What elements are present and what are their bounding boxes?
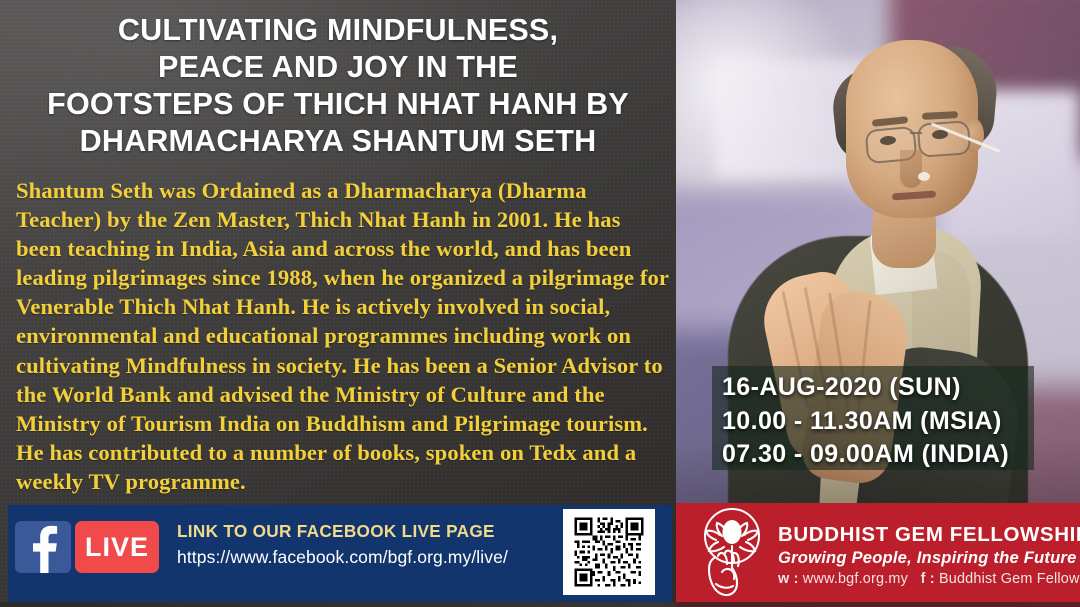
organisation-name: BUDDHIST GEM FELLOWSHIP <box>778 523 1078 547</box>
headset-mic-capsule-icon <box>918 172 930 181</box>
title-line-3: FOOTSTEPS OF THICH NHAT HANH BY <box>0 86 676 123</box>
title-line-4: DHARMACHARYA SHANTUM SETH <box>0 123 676 160</box>
title-line-1: CULTIVATING MINDFULNESS, <box>0 12 676 49</box>
organisation-tagline: Growing People, Inspiring the Future <box>778 548 1078 568</box>
lotus-in-hand-logo-icon <box>692 506 768 598</box>
facebook-label: f : <box>921 571 935 587</box>
speaker-biography: Shantum Seth was Ordained as a Dharmacha… <box>16 176 670 496</box>
poster-bottom-edge <box>0 602 1080 607</box>
speaker-spectacle-right <box>917 120 971 158</box>
qr-code-icon[interactable] <box>563 509 655 595</box>
poster-title: CULTIVATING MINDFULNESS, PEACE AND JOY I… <box>0 12 676 160</box>
schedule-time-msia: 10.00 - 11.30AM (MSIA) <box>722 405 1062 439</box>
event-poster: CULTIVATING MINDFULNESS, PEACE AND JOY I… <box>0 0 1080 607</box>
schedule-date: 16-AUG-2020 (SUN) <box>722 371 1062 405</box>
schedule-text-block: 16-AUG-2020 (SUN) 10.00 - 11.30AM (MSIA)… <box>722 371 1062 472</box>
speaker-nose <box>900 150 922 188</box>
biography-text: Shantum Seth was Ordained as a Dharmacha… <box>16 176 670 496</box>
live-badge: LIVE <box>75 521 159 573</box>
title-line-2: PEACE AND JOY IN THE <box>0 49 676 86</box>
organisation-contact: w : www.bgf.org.my f : Buddhist Gem Fell… <box>778 571 1080 587</box>
schedule-time-india: 07.30 - 09.00AM (INDIA) <box>722 438 1062 472</box>
web-label: w : <box>778 571 799 587</box>
facebook-live-url[interactable]: https://www.facebook.com/bgf.org.my/live… <box>177 547 557 568</box>
facebook-link-heading: LINK TO OUR FACEBOOK LIVE PAGE <box>177 521 507 542</box>
facebook-f-icon[interactable] <box>15 521 71 573</box>
speaker-spectacle-bridge <box>910 132 922 134</box>
organisation-facebook-page[interactable]: Buddhist Gem Fellowship <box>939 571 1080 587</box>
organisation-website[interactable]: www.bgf.org.my <box>803 571 908 587</box>
